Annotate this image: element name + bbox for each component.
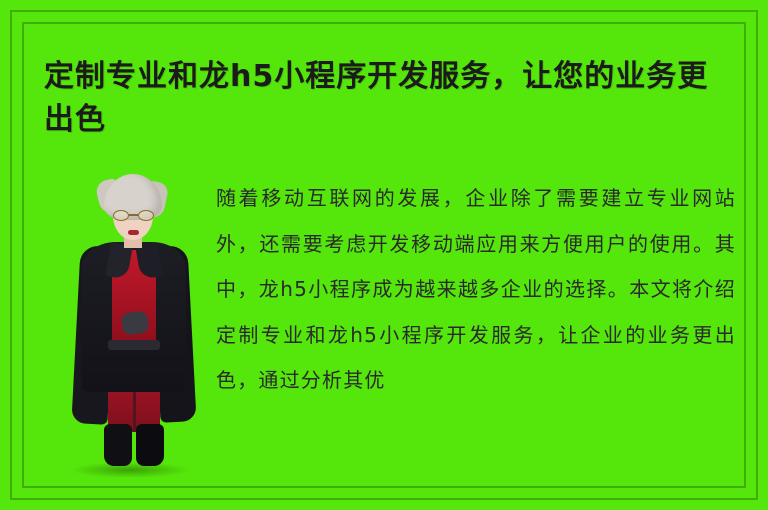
- boot-right: [136, 424, 164, 466]
- figure-shadow: [70, 462, 190, 478]
- character-illustration: [60, 172, 210, 484]
- poster-title: 定制专业和龙h5小程序开发服务，让您的业务更出色: [44, 56, 734, 141]
- glasses-bridge: [129, 214, 138, 216]
- glasses-lens-right: [138, 210, 154, 221]
- poster-canvas: 定制专业和龙h5小程序开发服务，让您的业务更出色 随着移动互联网的发展，企业除了…: [0, 0, 768, 510]
- lips: [128, 230, 139, 235]
- belt: [108, 340, 160, 350]
- boot-left: [104, 424, 132, 466]
- poster-body-text: 随着移动互联网的发展，企业除了需要建立专业网站外，还需要考虑开发移动端应用来方便…: [216, 176, 736, 404]
- glasses-lens-left: [113, 210, 129, 221]
- glasses-icon: [112, 210, 156, 221]
